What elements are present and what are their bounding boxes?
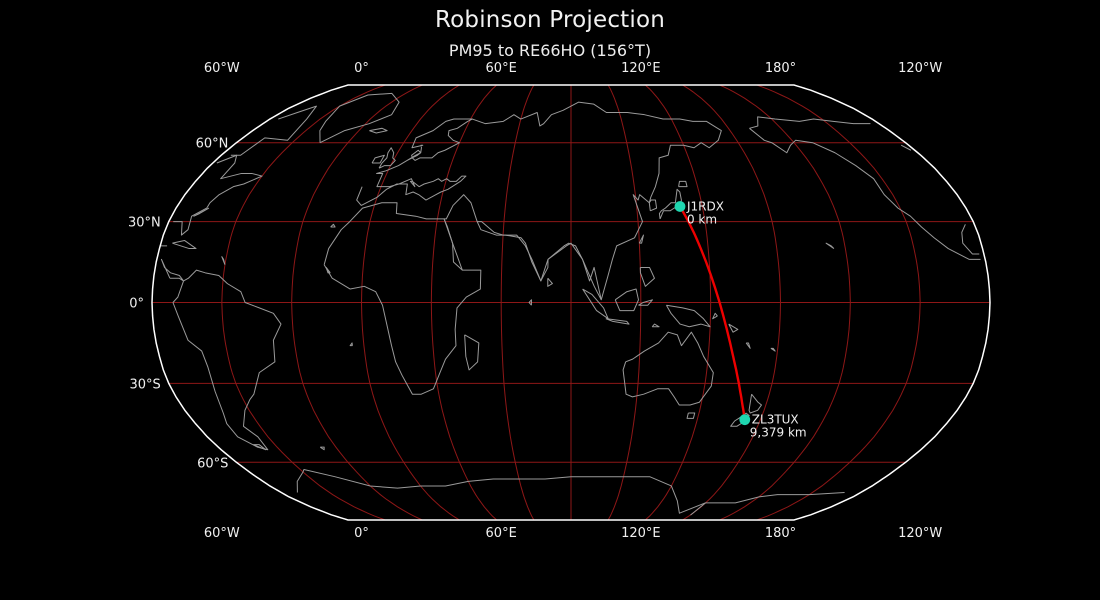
lon-tick-120: 120°E — [621, 61, 661, 76]
coastline-33 — [331, 224, 335, 227]
marker-dot[interactable] — [675, 201, 686, 212]
coastline-17 — [687, 413, 695, 418]
coastline-38 — [652, 324, 659, 327]
marker-callsign: J1RDX — [686, 199, 724, 213]
coastline-20 — [749, 117, 870, 128]
lon-tick--60: 60°W — [204, 526, 240, 541]
coastline-9 — [639, 235, 643, 243]
coastline-12 — [606, 319, 629, 324]
lon-tick-0: 0° — [354, 61, 369, 76]
lon-tick-0: 0° — [354, 526, 369, 541]
coastline-21 — [320, 93, 399, 142]
lon-tick-60: 60°E — [486, 61, 517, 76]
coastline-25 — [297, 470, 705, 515]
coastline-32 — [826, 243, 834, 248]
coastline-31 — [771, 348, 775, 351]
coastline-15 — [666, 305, 710, 327]
lat-tick--60: 60°S — [197, 456, 228, 471]
coastline-27 — [465, 335, 479, 370]
coastline-42 — [350, 343, 352, 346]
marker-distance: 0 km — [687, 212, 717, 226]
lon-tick--60: 60°W — [204, 61, 240, 76]
coastline-36 — [194, 208, 209, 216]
lat-tick-30: 30°N — [128, 216, 161, 231]
lon-tick--120: 120°W — [898, 526, 942, 541]
coastline-layer — [160, 93, 980, 514]
map-viewport: Robinson Projection PM95 to RE66HO (156°… — [0, 0, 1100, 600]
lat-tick-60: 60°N — [196, 137, 229, 152]
marker-distance: 9,379 km — [750, 426, 807, 440]
path-line[interactable] — [680, 206, 745, 419]
graticule-layer — [152, 85, 990, 520]
coastline-24 — [173, 270, 281, 450]
coastline-20 — [231, 106, 317, 155]
coastline-25 — [706, 493, 845, 503]
marker-callsign: ZL3TUX — [752, 413, 799, 427]
coastline-0 — [324, 203, 481, 394]
coastline-4 — [444, 102, 721, 300]
coastline-8 — [649, 200, 656, 211]
coastline-23 — [172, 240, 196, 248]
coastline-5 — [477, 222, 601, 300]
coastline-10 — [640, 267, 654, 286]
lon-tick-180: 180° — [765, 61, 796, 76]
coastline-11 — [583, 289, 609, 319]
coastline-7 — [679, 181, 687, 186]
coastline-39 — [713, 313, 718, 318]
coastline-18 — [749, 394, 761, 413]
lat-tick--30: 30°S — [129, 377, 160, 392]
coastline-26 — [369, 128, 387, 133]
coastline-29 — [729, 324, 738, 332]
coastline-30 — [746, 343, 750, 348]
robinson-map[interactable]: J1RDX0 kmZL3TUX9,379 km 0°0°60°E60°E120°… — [0, 0, 1100, 600]
marker-j1rdx[interactable]: J1RDX0 km — [675, 199, 724, 226]
marker-dot[interactable] — [739, 414, 750, 425]
lon-tick-60: 60°E — [486, 526, 517, 541]
great-circle-path[interactable] — [680, 206, 745, 419]
marker-zl3tux[interactable]: ZL3TUX9,379 km — [739, 413, 806, 440]
coastline-28 — [548, 278, 553, 286]
lon-tick--120: 120°W — [898, 61, 942, 76]
coastline-22 — [161, 259, 183, 281]
lat-tick-0: 0° — [129, 297, 144, 312]
coastline-35 — [222, 257, 225, 265]
lon-tick-180: 180° — [765, 526, 796, 541]
coastline-13 — [615, 289, 638, 311]
coastline-20 — [749, 128, 980, 259]
lon-tick-120: 120°E — [621, 526, 661, 541]
coastline-2 — [379, 148, 395, 168]
coastline-41 — [320, 447, 324, 450]
